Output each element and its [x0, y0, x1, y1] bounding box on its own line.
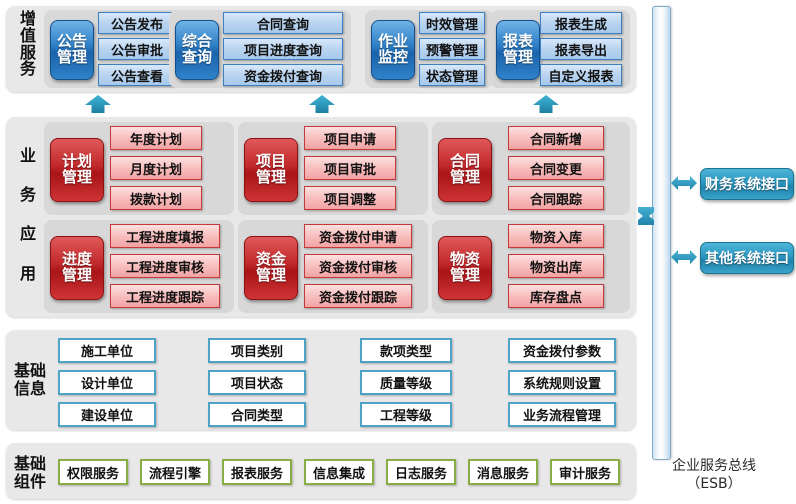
leaf-project-apply[interactable]: 项目申请: [304, 126, 396, 150]
leaf-audit-service[interactable]: 审计服务: [550, 459, 620, 485]
leaf-progress-review[interactable]: 工程进度审核: [110, 254, 220, 278]
leaf-construction-owner-unit[interactable]: 建设单位: [58, 402, 156, 427]
leaf-contract-query[interactable]: 合同查询: [223, 12, 343, 34]
leaf-permission-service[interactable]: 权限服务: [58, 459, 128, 485]
double-arrow-icon: [671, 249, 697, 265]
module-plan-management[interactable]: 计划管理: [50, 138, 104, 202]
module-label-line: 管理: [62, 170, 92, 186]
leaf-log-service[interactable]: 日志服务: [386, 459, 456, 485]
leaf-contract-change[interactable]: 合同变更: [508, 156, 604, 180]
leaf-quality-grade[interactable]: 质量等级: [360, 370, 452, 395]
leaf-fund-payment-track[interactable]: 资金拨付跟踪: [304, 284, 412, 308]
leaf-business-process-management[interactable]: 业务流程管理: [508, 402, 616, 427]
leaf-project-status[interactable]: 项目状态: [208, 370, 306, 395]
layer-label-char: 用: [10, 254, 46, 293]
layer-label-basic-information: 基础信息: [8, 362, 52, 398]
leaf-status-management[interactable]: 状态管理: [419, 64, 485, 86]
leaf-fund-payment-apply[interactable]: 资金拨付申请: [304, 224, 412, 248]
leaf-fund-payment-parameters[interactable]: 资金拨付参数: [508, 338, 616, 363]
module-label-line: 管理: [450, 268, 480, 284]
leaf-timeliness-management[interactable]: 时效管理: [419, 12, 485, 34]
leaf-system-rule-settings[interactable]: 系统规则设置: [508, 370, 616, 395]
leaf-report-service[interactable]: 报表服务: [222, 459, 292, 485]
bus-connector-icon: [636, 203, 656, 229]
esb-label: 企业服务总线 （ESB）: [634, 458, 794, 493]
module-label-line: 管理: [256, 170, 286, 186]
leaf-contract-add[interactable]: 合同新增: [508, 126, 604, 150]
leaf-message-service[interactable]: 消息服务: [468, 459, 538, 485]
leaf-design-unit[interactable]: 设计单位: [58, 370, 156, 395]
layer-label-char: 应: [10, 214, 46, 253]
layer-label-line: 组件: [14, 472, 46, 491]
esb-name: 企业服务总线: [634, 458, 794, 476]
leaf-contract-track[interactable]: 合同跟踪: [508, 186, 604, 210]
leaf-announcement-view[interactable]: 公告查看: [98, 64, 176, 86]
module-progress-management[interactable]: 进度管理: [50, 236, 104, 300]
layer-label-basic-components: 基础组件: [8, 455, 52, 491]
module-label-line: 管理: [503, 50, 533, 66]
module-job-monitoring[interactable]: 作业监控: [371, 20, 415, 80]
leaf-allocation-plan[interactable]: 拨款计划: [110, 186, 202, 210]
layer-label-char: 务: [10, 61, 46, 78]
leaf-engineering-grade[interactable]: 工程等级: [360, 402, 452, 427]
interface-other-system[interactable]: 其他系统接口: [700, 242, 794, 274]
module-label-line: 管理: [62, 268, 92, 284]
layer-label-line: 信息: [14, 379, 46, 398]
layer-label-value-added: 增值服务: [10, 10, 46, 89]
enterprise-service-bus: [652, 6, 671, 460]
up-arrow-icon: [308, 95, 336, 114]
leaf-fund-payment-query[interactable]: 资金拨付查询: [223, 64, 343, 86]
leaf-payment-type[interactable]: 款项类型: [360, 338, 452, 363]
leaf-inventory-count[interactable]: 库存盘点: [508, 284, 604, 308]
module-contract-management[interactable]: 合同管理: [438, 138, 492, 202]
leaf-annual-plan[interactable]: 年度计划: [110, 126, 202, 150]
double-arrow-icon: [671, 175, 697, 191]
module-fund-management[interactable]: 资金管理: [244, 236, 298, 300]
layer-label-char: 业: [10, 136, 46, 175]
leaf-construction-unit[interactable]: 施工单位: [58, 338, 156, 363]
leaf-report-custom[interactable]: 自定义报表: [540, 64, 622, 86]
esb-abbr: （ESB）: [634, 476, 794, 494]
module-announcement-management[interactable]: 公告管理: [50, 20, 94, 80]
leaf-monthly-plan[interactable]: 月度计划: [110, 156, 202, 180]
leaf-alert-management[interactable]: 预警管理: [419, 38, 485, 60]
module-label-line: 查询: [182, 50, 212, 66]
architecture-diagram: 增值服务 公告管理 公告发布 公告审批 公告查看 综合查询 合同查询 项目进度查…: [0, 0, 796, 504]
leaf-report-export[interactable]: 报表导出: [540, 38, 622, 60]
leaf-contract-type[interactable]: 合同类型: [208, 402, 306, 427]
module-label-line: 管理: [256, 268, 286, 284]
leaf-material-inbound[interactable]: 物资入库: [508, 224, 604, 248]
leaf-process-engine[interactable]: 流程引擎: [140, 459, 210, 485]
layer-label-business-application: 业务应用: [10, 136, 46, 302]
up-arrow-icon: [84, 95, 112, 114]
leaf-fund-payment-review[interactable]: 资金拨付审核: [304, 254, 412, 278]
leaf-project-progress-query[interactable]: 项目进度查询: [223, 38, 343, 60]
module-project-management[interactable]: 项目管理: [244, 138, 298, 202]
leaf-project-approve[interactable]: 项目审批: [304, 156, 396, 180]
leaf-announcement-publish[interactable]: 公告发布: [98, 12, 176, 34]
module-comprehensive-query[interactable]: 综合查询: [175, 20, 219, 80]
layer-label-line: 基础: [14, 361, 46, 380]
leaf-information-integration[interactable]: 信息集成: [304, 459, 374, 485]
module-material-management[interactable]: 物资管理: [438, 236, 492, 300]
leaf-material-outbound[interactable]: 物资出库: [508, 254, 604, 278]
leaf-progress-track[interactable]: 工程进度跟踪: [110, 284, 220, 308]
leaf-announcement-approve[interactable]: 公告审批: [98, 38, 176, 60]
module-label-line: 管理: [450, 170, 480, 186]
leaf-progress-report-fill[interactable]: 工程进度填报: [110, 224, 220, 248]
leaf-report-generate[interactable]: 报表生成: [540, 12, 622, 34]
leaf-project-adjust[interactable]: 项目调整: [304, 186, 396, 210]
leaf-project-category[interactable]: 项目类别: [208, 338, 306, 363]
module-label-line: 监控: [378, 50, 408, 66]
interface-finance-system[interactable]: 财务系统接口: [700, 168, 794, 200]
up-arrow-icon: [532, 95, 560, 114]
module-label-line: 管理: [57, 50, 87, 66]
layer-label-line: 基础: [14, 454, 46, 473]
layer-label-char: 务: [10, 175, 46, 214]
module-report-management[interactable]: 报表管理: [496, 20, 540, 80]
